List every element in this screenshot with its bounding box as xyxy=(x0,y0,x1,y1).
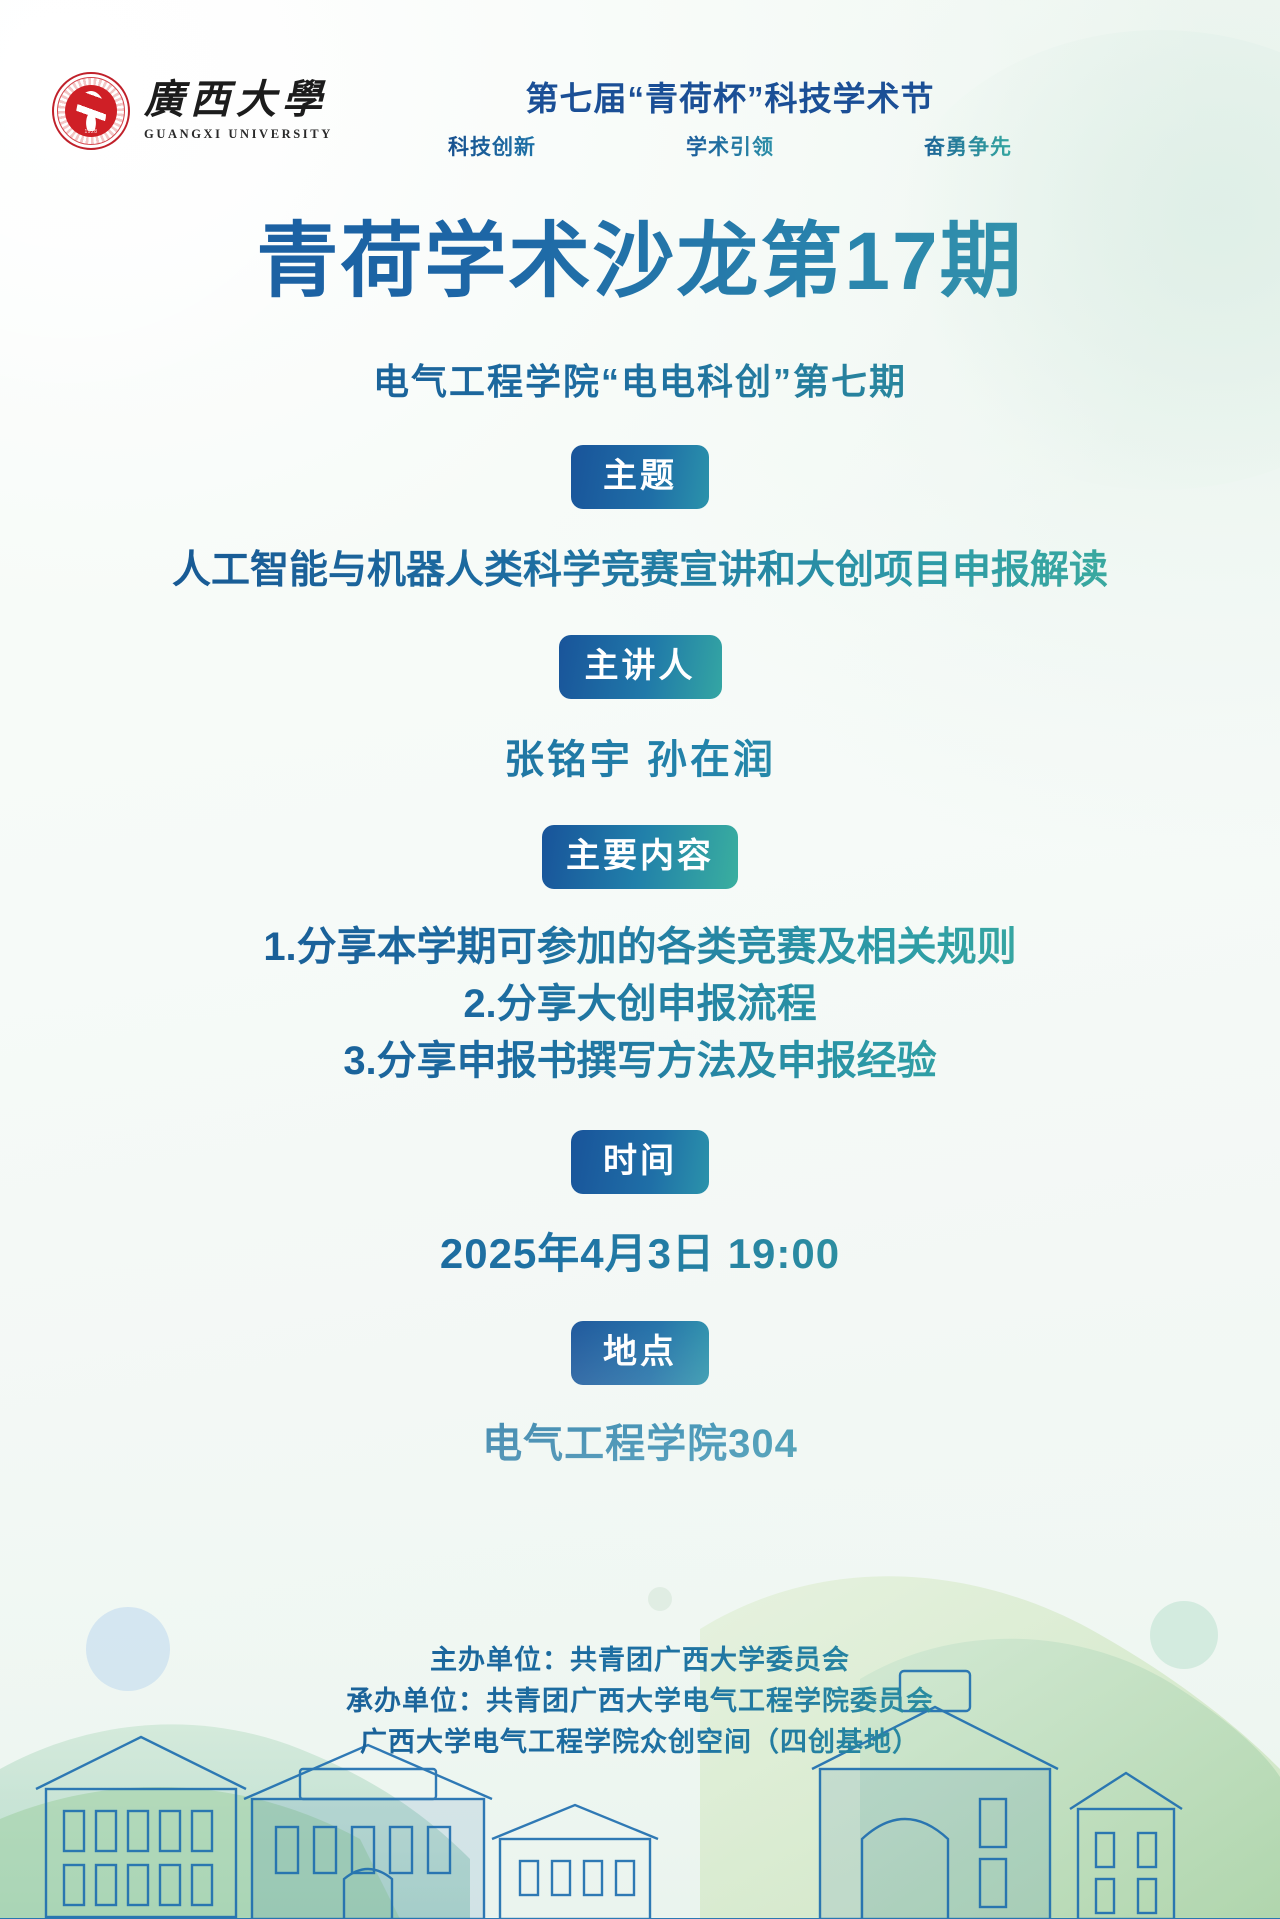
badge-speaker: 主讲人 xyxy=(559,635,722,699)
badge-content: 主要内容 xyxy=(542,825,738,889)
section-content: 主要内容 1.分享本学期可参加的各类竞赛及相关规则 2.分享大创申报流程 3.分… xyxy=(0,825,1280,1089)
badge-topic: 主题 xyxy=(571,445,709,509)
slogan-1: 科技创新 xyxy=(448,131,536,161)
topic-text: 人工智能与机器人类科学竞赛宣讲和大创项目申报解读 xyxy=(0,539,1280,595)
content-point: 1.分享本学期可参加的各类竞赛及相关规则 xyxy=(0,919,1280,976)
speaker-text: 张铭宇 孙在润 xyxy=(0,727,1280,785)
poster-body: 青荷学术沙龙第17期 电气工程学院“电电科创”第七期 主题 人工智能与机器人类科… xyxy=(0,215,1280,1469)
badge-place: 地点 xyxy=(571,1321,709,1385)
organizer-line: 广西大学电气工程学院众创空间（四创基地） xyxy=(0,1722,1280,1763)
poster-header: 1928 廣西大學 GUANGXI UNIVERSITY 第七届“青荷杯”科技学… xyxy=(0,0,1280,190)
badge-time: 时间 xyxy=(571,1130,709,1194)
section-time: 时间 2025年4月3日 19:00 xyxy=(0,1130,1280,1281)
logo-name-cn: 廣西大學 xyxy=(144,80,333,120)
organizer-line: 承办单位：共青团广西大学电气工程学院委员会 xyxy=(0,1681,1280,1722)
sub-title: 电气工程学院“电电科创”第七期 xyxy=(0,353,1280,405)
university-logo: 1928 廣西大學 GUANGXI UNIVERSITY xyxy=(52,72,333,150)
section-speaker: 主讲人 张铭宇 孙在润 xyxy=(0,635,1280,785)
content-points: 1.分享本学期可参加的各类竞赛及相关规则 2.分享大创申报流程 3.分享申报书撰… xyxy=(0,919,1280,1089)
content-point: 2.分享大创申报流程 xyxy=(0,976,1280,1033)
seal-year: 1928 xyxy=(84,129,97,135)
section-place: 地点 电气工程学院304 xyxy=(0,1321,1280,1469)
logo-name-en: GUANGXI UNIVERSITY xyxy=(144,127,333,142)
organizer-line: 主办单位：共青团广西大学委员会 xyxy=(0,1640,1280,1681)
slogan-2: 学术引领 xyxy=(686,131,774,161)
content-point: 3.分享申报书撰写方法及申报经验 xyxy=(0,1033,1280,1090)
place-text: 电气工程学院304 xyxy=(0,1411,1280,1469)
slogan-3: 奋勇争先 xyxy=(924,131,1012,161)
main-title: 青荷学术沙龙第17期 xyxy=(0,215,1280,309)
festival-header: 第七届“青荷杯”科技学术节 科技创新 学术引领 奋勇争先 xyxy=(430,78,1030,161)
festival-title: 第七届“青荷杯”科技学术节 xyxy=(430,78,1030,119)
time-text: 2025年4月3日 19:00 xyxy=(0,1220,1280,1281)
university-seal-icon: 1928 xyxy=(52,72,130,150)
section-topic: 主题 人工智能与机器人类科学竞赛宣讲和大创项目申报解读 xyxy=(0,445,1280,595)
festival-slogans: 科技创新 学术引领 奋勇争先 xyxy=(430,131,1030,161)
organizer-block: 主办单位：共青团广西大学委员会 承办单位：共青团广西大学电气工程学院委员会 广西… xyxy=(0,1640,1280,1763)
